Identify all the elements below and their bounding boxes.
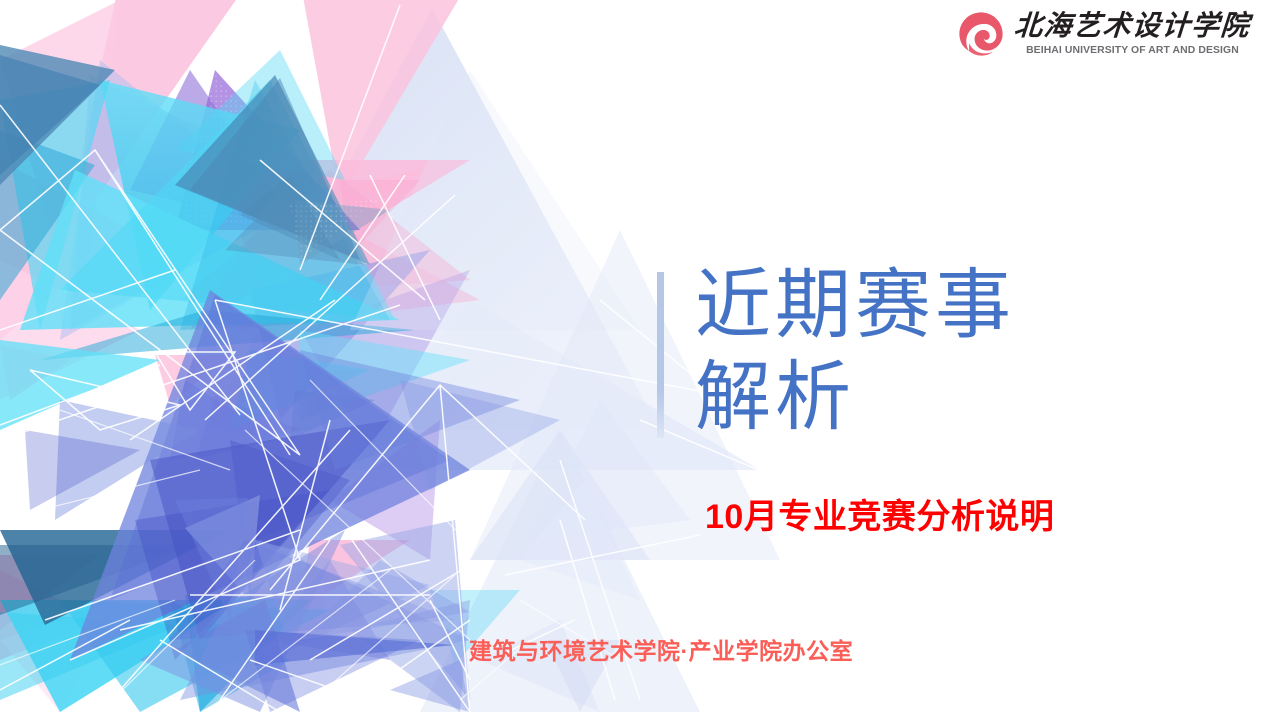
logo-institution-cn: 北海艺术设计学院	[1013, 13, 1251, 41]
logo-institution-en: BEIHAI UNIVERSITY OF ART AND DESIGN	[1026, 45, 1239, 56]
slide-subtitle: 10月专业竞赛分析说明	[705, 489, 1054, 538]
title-accent-bar	[657, 272, 664, 438]
logo-text-group: 北海艺术设计学院 BEIHAI UNIVERSITY OF ART AND DE…	[1014, 13, 1250, 56]
department-footer: 建筑与环境艺术学院·产业学院办公室	[469, 632, 853, 666]
title-lines: 近期赛事 解析	[695, 268, 1015, 436]
page-title-line-2: 解析	[695, 360, 1015, 436]
abstract-triangle-collage	[0, 0, 1268, 712]
page-title-line-1: 近期赛事	[695, 268, 1015, 344]
slide-title-block: 近期赛事 解析	[657, 268, 1015, 438]
beihai-spiral-logo-mark	[958, 11, 1004, 57]
title-slide: 北海艺术设计学院 BEIHAI UNIVERSITY OF ART AND DE…	[0, 0, 1268, 712]
university-logo: 北海艺术设计学院 BEIHAI UNIVERSITY OF ART AND DE…	[958, 6, 1250, 62]
